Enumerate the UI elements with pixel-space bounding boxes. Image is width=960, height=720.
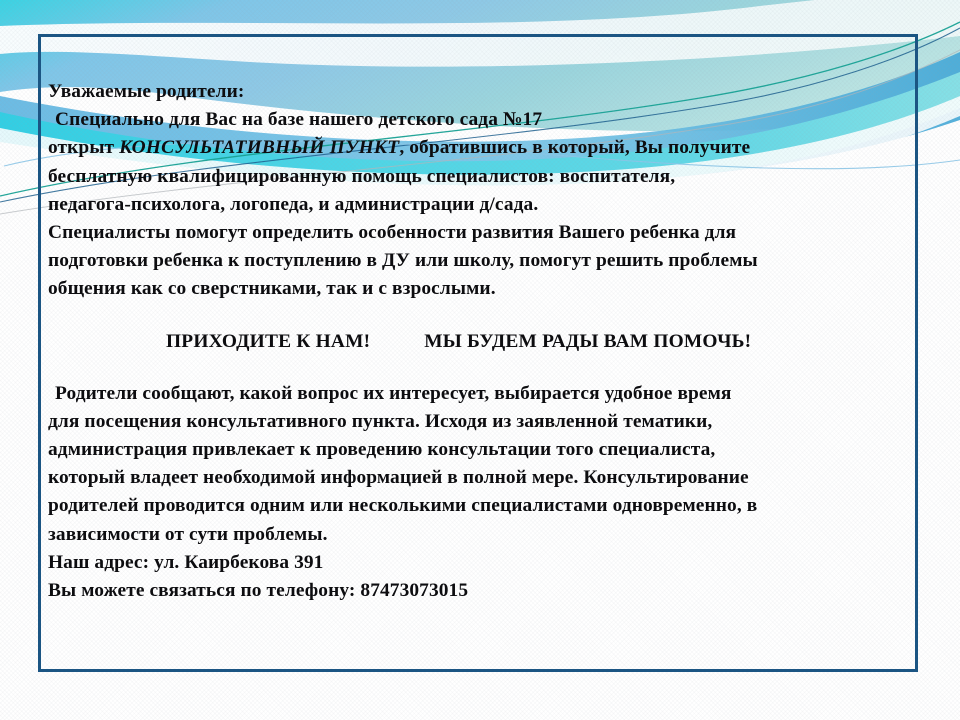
call-to-action-line: ПРИХОДИТЕ К НАМ!МЫ БУДЕМ РАДЫ ВАМ ПОМОЧЬ… bbox=[48, 328, 928, 356]
specialists-line-2: подготовки ребенка к поступлению в ДУ ил… bbox=[48, 247, 928, 275]
procedure-line-3: администрация привлекает к проведению ко… bbox=[48, 436, 928, 464]
cta-right-text: МЫ БУДЕМ РАДЫ ВАМ ПОМОЧЬ! bbox=[424, 331, 751, 352]
procedure-line-2: для посещения консультативного пункта. И… bbox=[48, 408, 928, 436]
specialists-line-3: общения как со сверстниками, так и с взр… bbox=[48, 275, 928, 303]
procedure-line-1: Родители сообщают, какой вопрос их интер… bbox=[48, 380, 928, 408]
procedure-line-6: зависимости от сути проблемы. bbox=[48, 521, 928, 549]
intro-line-3: бесплатную квалифицированную помощь спец… bbox=[48, 163, 928, 191]
slide-body-text: Уважаемые родители: Специально для Вас н… bbox=[48, 78, 928, 605]
spacer-after-cta bbox=[48, 356, 928, 380]
slide-canvas: Уважаемые родители: Специально для Вас н… bbox=[0, 0, 960, 720]
salutation-line: Уважаемые родители: bbox=[48, 78, 928, 106]
intro-line-2-prefix: открыт bbox=[48, 137, 119, 158]
specialists-line-1: Специалисты помогут определить особеннос… bbox=[48, 219, 928, 247]
phone-line: Вы можете связаться по телефону: 8747307… bbox=[48, 577, 928, 605]
intro-line-1-text: Специально для Вас на базе нашего детско… bbox=[55, 109, 542, 130]
intro-line-2: открыт КОНСУЛЬТАТИВНЫЙ ПУНКТ, обратившис… bbox=[48, 134, 928, 162]
spacer-before-cta bbox=[48, 304, 928, 328]
intro-line-4: педагога-психолога, логопеда, и админист… bbox=[48, 191, 928, 219]
procedure-line-4: который владеет необходимой информацией … bbox=[48, 464, 928, 492]
cta-left-text: ПРИХОДИТЕ К НАМ! bbox=[166, 331, 370, 352]
intro-line-1: Специально для Вас на базе нашего детско… bbox=[48, 106, 928, 134]
procedure-line-1-text: Родители сообщают, какой вопрос их интер… bbox=[55, 383, 732, 404]
consultation-point-emphasis: КОНСУЛЬТАТИВНЫЙ ПУНКТ bbox=[119, 137, 399, 158]
procedure-line-5: родителей проводится одним или нескольки… bbox=[48, 492, 928, 520]
address-line: Наш адрес: ул. Каирбекова 391 bbox=[48, 549, 928, 577]
intro-line-2-suffix: , обратившись в который, Вы получите bbox=[399, 137, 750, 158]
